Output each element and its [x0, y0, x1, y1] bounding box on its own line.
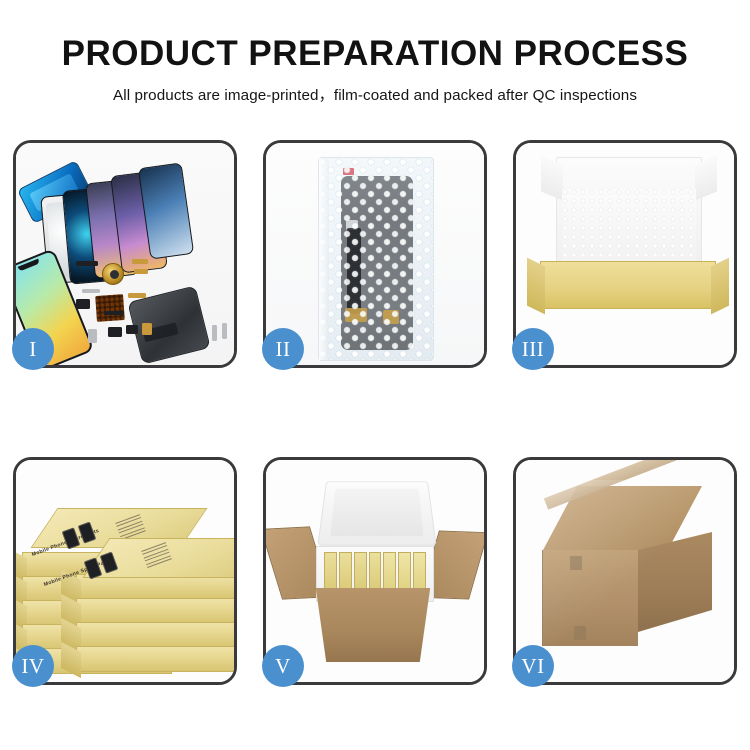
carton-seal-mark [574, 626, 586, 640]
bubble-wrap-bag [318, 157, 434, 361]
step-2-photo [266, 143, 484, 365]
step-badge-1: I [12, 328, 54, 370]
process-step-panel-1: I [13, 140, 237, 368]
process-step-panel-2: II [263, 140, 487, 368]
button-part [126, 325, 138, 334]
step-badge-2: II [262, 328, 304, 370]
bag-seam [319, 158, 329, 360]
foam-sheet [562, 189, 696, 271]
vibrator-part [108, 327, 122, 337]
process-step-panel-3: III [513, 140, 737, 368]
foam-lid [317, 481, 436, 545]
step-badge-3: III [512, 328, 554, 370]
yellow-tray-box [540, 261, 716, 309]
screw-part [222, 323, 227, 339]
retail-box-stack: Mobile Phone Spare Parts Mobile Phone Sp… [18, 486, 234, 676]
flex-cable-part [132, 259, 148, 264]
retail-box [76, 646, 234, 672]
connector-part [142, 323, 152, 335]
bubble-texture [319, 158, 433, 360]
process-step-panel-5: V [263, 457, 487, 685]
step-3-photo [516, 143, 734, 365]
process-step-panel-6: VI [513, 457, 737, 685]
step-badge-6: VI [512, 645, 554, 687]
carton-front-face [542, 550, 638, 646]
step-1-photo [16, 143, 234, 365]
bracket-part [82, 289, 100, 293]
step-4-photo: Mobile Phone Spare Parts Mobile Phone Sp… [16, 460, 234, 682]
speaker-coil-part [102, 263, 124, 285]
carton-body [308, 588, 438, 662]
camera-module-part [76, 299, 90, 309]
page-title: PRODUCT PREPARATION PROCESS [0, 36, 750, 73]
product-preparation-page: PRODUCT PREPARATION PROCESS All products… [0, 0, 750, 750]
step-badge-5: V [262, 645, 304, 687]
process-step-grid: I II [13, 140, 737, 685]
retail-box [76, 598, 234, 624]
sim-tray-part [88, 329, 97, 343]
retail-box [76, 622, 234, 648]
antenna-part [104, 311, 124, 315]
step-badge-4: IV [12, 645, 54, 687]
process-step-panel-4: Mobile Phone Spare Parts Mobile Phone Sp… [13, 457, 237, 685]
earpiece-part [76, 261, 98, 266]
page-header: PRODUCT PREPARATION PROCESS All products… [0, 0, 750, 105]
ic-chip-part [95, 294, 125, 322]
step-6-photo [516, 460, 734, 682]
flex-cable-part [134, 269, 148, 274]
carton-seal-mark [570, 556, 582, 570]
screw-part [212, 325, 217, 341]
step-5-photo [266, 460, 484, 682]
page-subtitle: All products are image-printed，film-coat… [0, 83, 750, 105]
flex-cable-part [128, 293, 146, 298]
